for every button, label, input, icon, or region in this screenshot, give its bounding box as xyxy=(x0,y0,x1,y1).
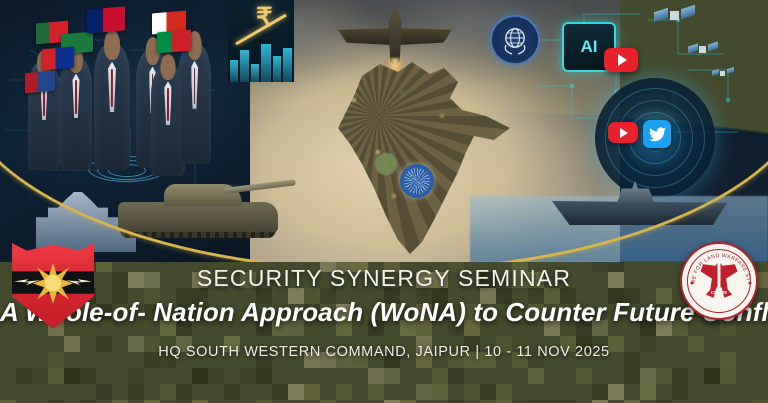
satellite-icon xyxy=(712,66,734,82)
page-title: SECURITY SYNERGY SEMINAR xyxy=(0,265,768,292)
naval-warship xyxy=(552,175,727,233)
ashoka-chakra xyxy=(400,164,434,198)
seminar-poster: ₹ xyxy=(0,0,768,403)
diplomat-figure xyxy=(178,44,211,164)
flag-uk xyxy=(87,6,125,33)
rupee-icon: ₹ xyxy=(256,2,273,33)
claws-abbreviation: CLAWS xyxy=(711,290,727,295)
flag-italy xyxy=(157,30,191,54)
flag-taiwan xyxy=(42,47,74,71)
ai-chip-label: AI xyxy=(581,37,598,57)
south-western-command-shield xyxy=(12,243,94,329)
battle-tank xyxy=(118,160,293,242)
sun-icon xyxy=(33,263,73,303)
page-subtitle: A Whole-of- Nation Approach (WoNA) to Co… xyxy=(0,297,768,328)
economic-growth-chart: ₹ xyxy=(228,0,294,82)
text-band: SECURITY SYNERGY SEMINAR A Whole-of- Nat… xyxy=(0,258,768,403)
youtube-icon xyxy=(608,122,638,143)
flag-netherlands xyxy=(25,71,55,94)
satellite-icon xyxy=(654,4,696,34)
diplomat-figure xyxy=(60,58,92,170)
claws-logo: CENTRE FOR LAND WARFARE STUDIES CLAWS xyxy=(680,242,758,320)
youtube-icon xyxy=(604,48,638,72)
hero-image-collage: ₹ xyxy=(0,0,768,262)
collage-backdrop: ₹ xyxy=(0,0,768,262)
venue-date-line: HQ SOUTH WESTERN COMMAND, JAIPUR | 10 - … xyxy=(0,344,768,360)
fighter-jet xyxy=(330,6,460,70)
claws-spear xyxy=(718,257,721,291)
twitter-icon xyxy=(643,120,671,148)
diplomat-figure xyxy=(94,44,130,170)
satellite-icon xyxy=(688,40,718,62)
